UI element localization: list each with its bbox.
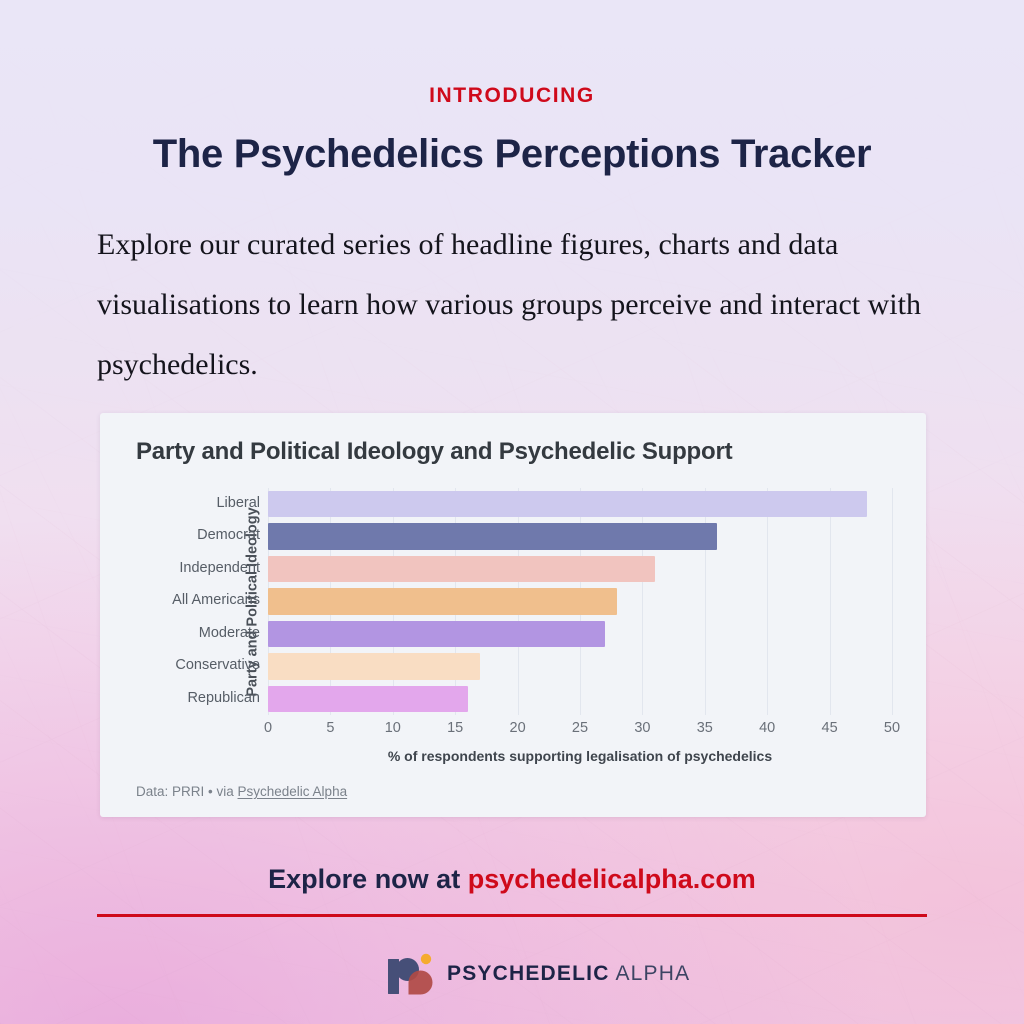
chart-bar-row: Conservative <box>268 650 892 682</box>
chart-x-tick-label: 40 <box>759 720 775 736</box>
chart-plot-area: LiberalDemocratIndependentAll AmericansM… <box>268 488 892 715</box>
chart-bar[interactable] <box>268 686 468 712</box>
chart-source-link[interactable]: Psychedelic Alpha <box>238 784 348 799</box>
chart-bar-row: Democrat <box>268 520 892 552</box>
divider-rule <box>97 914 927 917</box>
chart-x-tick-label: 50 <box>884 720 900 736</box>
chart-x-tick-label: 10 <box>385 720 401 736</box>
chart-category-label: Independent <box>179 560 260 576</box>
chart-bar[interactable] <box>268 621 605 647</box>
cta-prefix: Explore now at <box>268 864 468 894</box>
chart-bar-row: All Americans <box>268 585 892 617</box>
brand-name-alpha: ALPHA <box>615 962 690 985</box>
chart-source-prefix: Data: PRRI • via <box>136 784 238 799</box>
chart-x-tick-label: 5 <box>326 720 334 736</box>
chart-x-tick-label: 20 <box>510 720 526 736</box>
chart-x-tick-label: 35 <box>697 720 713 736</box>
page-title: The Psychedelics Perceptions Tracker <box>0 132 1024 177</box>
chart-bar[interactable] <box>268 653 480 679</box>
chart-bar[interactable] <box>268 523 717 549</box>
brand-wordmark: PSYCHEDELIC ALPHA <box>447 962 690 986</box>
chart-x-axis-title: % of respondents supporting legalisation… <box>268 748 892 764</box>
chart-gridline <box>892 488 893 715</box>
chart-bar-row: Liberal <box>268 488 892 520</box>
chart-card: Party and Political Ideology and Psyched… <box>100 413 926 817</box>
psychedelic-alpha-mark-icon <box>387 952 433 996</box>
chart-bar[interactable] <box>268 556 655 582</box>
promo-card: INTRODUCING The Psychedelics Perceptions… <box>0 0 1024 1024</box>
cta-url-link[interactable]: psychedelicalpha.com <box>468 864 756 894</box>
chart-bar-row: Moderate <box>268 618 892 650</box>
chart-source-note: Data: PRRI • via Psychedelic Alpha <box>136 784 347 799</box>
chart-x-tick-label: 45 <box>822 720 838 736</box>
chart-title: Party and Political Ideology and Psyched… <box>136 438 732 466</box>
chart-bar-row: Independent <box>268 553 892 585</box>
brand-name-bold: PSYCHEDELIC <box>447 962 610 985</box>
eyebrow-label: INTRODUCING <box>0 84 1024 108</box>
chart-category-label: Conservative <box>175 657 260 673</box>
cta-line: Explore now at psychedelicalpha.com <box>0 864 1024 895</box>
chart-bar[interactable] <box>268 491 867 517</box>
chart-category-label: Liberal <box>216 495 260 511</box>
chart-bar-row: Republican <box>268 683 892 715</box>
chart-x-tick-label: 15 <box>447 720 463 736</box>
chart-category-label: Moderate <box>199 625 260 641</box>
chart-x-tick-label: 25 <box>572 720 588 736</box>
chart-x-tick-label: 30 <box>634 720 650 736</box>
chart-category-label: Democrat <box>197 527 260 543</box>
chart-category-label: Republican <box>187 690 260 706</box>
chart-category-label: All Americans <box>172 592 260 608</box>
intro-paragraph: Explore our curated series of headline f… <box>97 215 927 395</box>
brand-logo: PSYCHEDELIC ALPHA <box>387 950 690 998</box>
chart-x-tick-label: 0 <box>264 720 272 736</box>
chart-bar[interactable] <box>268 588 617 614</box>
